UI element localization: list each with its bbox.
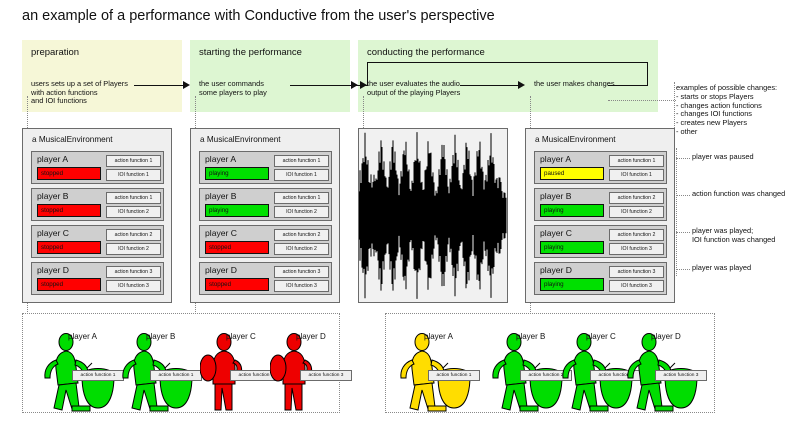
player-status-badge[interactable]: playing bbox=[540, 278, 604, 291]
phase-title-conducting: conducting the performance bbox=[367, 47, 485, 58]
phase-body-evaluate: the user evaluates the audio output of t… bbox=[367, 80, 460, 97]
phase-title-preparation: preparation bbox=[31, 47, 79, 58]
player-status-badge[interactable]: stopped bbox=[205, 278, 269, 291]
phase-panel-starting: starting the performance the user comman… bbox=[190, 40, 350, 112]
action-function-box[interactable]: action function 1 bbox=[274, 192, 329, 204]
player-name: player B bbox=[37, 191, 69, 201]
phase-body-line: some players to play bbox=[199, 89, 267, 98]
player-status-badge[interactable]: playing bbox=[205, 204, 269, 217]
env-title: a MusicalEnvironment bbox=[32, 135, 113, 144]
player-name: player A bbox=[37, 154, 68, 164]
player-name: player B bbox=[540, 191, 572, 201]
player-row[interactable]: player B stopped action function 1 IOI f… bbox=[31, 188, 164, 221]
figure-action-function-box[interactable]: action function 3 bbox=[300, 370, 352, 381]
examples-bracket bbox=[674, 82, 675, 130]
player-status-badge[interactable]: stopped bbox=[37, 241, 101, 254]
annotation-leader-played-ioi bbox=[676, 232, 690, 233]
action-function-box[interactable]: action function 2 bbox=[274, 229, 329, 241]
ioi-function-box[interactable]: IOI function 2 bbox=[106, 206, 161, 218]
annotation-leader-paused bbox=[676, 158, 690, 159]
flow-arrowhead bbox=[360, 81, 367, 89]
player-row[interactable]: player A playing action function 1 IOI f… bbox=[199, 151, 332, 184]
player-status-badge[interactable]: stopped bbox=[37, 278, 101, 291]
annotation-leader-played bbox=[676, 269, 690, 270]
ioi-function-box[interactable]: IOI function 3 bbox=[274, 280, 329, 292]
phase-body-changes: the user makes changes bbox=[534, 80, 615, 89]
player-status-badge[interactable]: paused bbox=[540, 167, 604, 180]
ioi-function-box[interactable]: IOI function 1 bbox=[609, 169, 664, 181]
ioi-function-box[interactable]: IOI function 3 bbox=[106, 280, 161, 292]
action-function-box[interactable]: action function 3 bbox=[106, 266, 161, 278]
action-function-box[interactable]: action function 1 bbox=[274, 155, 329, 167]
figure-action-function-box[interactable]: action function 1 bbox=[72, 370, 124, 381]
examples-of-changes-note: examples of possible changes: - starts o… bbox=[676, 84, 777, 137]
action-function-box[interactable]: action function 3 bbox=[274, 266, 329, 278]
connector-prep-to-env1 bbox=[27, 96, 28, 128]
player-name: player A bbox=[540, 154, 571, 164]
player-name: player D bbox=[205, 265, 237, 275]
player-status-badge[interactable]: stopped bbox=[37, 167, 101, 180]
ioi-function-box[interactable]: IOI function 2 bbox=[274, 243, 329, 255]
connector-changes-to-examples bbox=[608, 100, 676, 101]
annotation-leader-action-changed bbox=[676, 195, 690, 196]
connector-changes-to-env3 bbox=[530, 96, 531, 128]
feedback-loop-bottom-right bbox=[608, 85, 648, 86]
player-status-badge[interactable]: playing bbox=[205, 167, 269, 180]
player-row[interactable]: player A stopped action function 1 IOI f… bbox=[31, 151, 164, 184]
feedback-loop-right bbox=[647, 62, 648, 86]
player-row[interactable]: player D stopped action function 3 IOI f… bbox=[199, 262, 332, 295]
player-name: player A bbox=[205, 154, 236, 164]
player-row[interactable]: player D stopped action function 3 IOI f… bbox=[31, 262, 164, 295]
phase-body-starting: the user commands some players to play bbox=[199, 80, 267, 97]
player-row[interactable]: player C stopped action function 2 IOI f… bbox=[199, 225, 332, 258]
player-name: player C bbox=[37, 228, 69, 238]
ioi-function-box[interactable]: IOI function 3 bbox=[609, 243, 664, 255]
player-row[interactable]: player C stopped action function 2 IOI f… bbox=[31, 225, 164, 258]
annotation-spine bbox=[676, 148, 677, 276]
env-title: a MusicalEnvironment bbox=[200, 135, 281, 144]
flow-arrowhead bbox=[183, 81, 190, 89]
musical-environment-3: a MusicalEnvironment player A paused act… bbox=[525, 128, 675, 303]
phase-body-line: the user makes changes bbox=[534, 80, 615, 89]
player-row[interactable]: player C playing action function 2 IOI f… bbox=[534, 225, 667, 258]
figure-label: player D bbox=[296, 332, 326, 341]
annotation-player-played: player was played bbox=[692, 264, 751, 273]
player-name: player C bbox=[540, 228, 572, 238]
figure-action-function-box[interactable]: action function 1 bbox=[150, 370, 202, 381]
figure-label: player C bbox=[226, 332, 256, 341]
phase-body-line: output of the playing Players bbox=[367, 89, 460, 98]
action-function-box[interactable]: action function 2 bbox=[106, 229, 161, 241]
flow-arrowhead bbox=[518, 81, 525, 89]
audio-waveform-panel bbox=[358, 128, 508, 303]
player-name: player D bbox=[540, 265, 572, 275]
player-row[interactable]: player A paused action function 1 IOI fu… bbox=[534, 151, 667, 184]
player-name: player B bbox=[205, 191, 237, 201]
action-function-box[interactable]: action function 2 bbox=[609, 229, 664, 241]
connector-evaluate-to-wave bbox=[363, 96, 364, 128]
phase-title-starting: starting the performance bbox=[199, 47, 302, 58]
ioi-function-box[interactable]: IOI function 1 bbox=[274, 169, 329, 181]
annotation-played-ioi-changed: player was played; IOI function was chan… bbox=[692, 227, 775, 245]
action-function-box[interactable]: action function 1 bbox=[106, 155, 161, 167]
annotation-line: IOI function was changed bbox=[692, 236, 775, 245]
player-row[interactable]: player D playing action function 3 IOI f… bbox=[534, 262, 667, 295]
player-status-badge[interactable]: stopped bbox=[205, 241, 269, 254]
flow-arrow-evaluate-to-changes bbox=[460, 85, 519, 86]
annotation-player-paused: player was paused bbox=[692, 153, 754, 162]
flow-arrow-prep-to-start bbox=[134, 85, 184, 86]
player-row[interactable]: player B playing action function 1 IOI f… bbox=[199, 188, 332, 221]
action-function-box[interactable]: action function 2 bbox=[609, 192, 664, 204]
ioi-function-box[interactable]: IOI function 2 bbox=[106, 243, 161, 255]
ioi-function-box[interactable]: IOI function 3 bbox=[609, 280, 664, 292]
feedback-loop-top bbox=[367, 62, 648, 63]
player-status-badge[interactable]: playing bbox=[540, 241, 604, 254]
phase-body-preparation: users sets up a set of Players with acti… bbox=[31, 80, 128, 106]
ioi-function-box[interactable]: IOI function 2 bbox=[274, 206, 329, 218]
ioi-function-box[interactable]: IOI function 1 bbox=[106, 169, 161, 181]
player-name: player C bbox=[205, 228, 237, 238]
figure-label: player B bbox=[146, 332, 175, 341]
player-row[interactable]: player B playing action function 2 IOI f… bbox=[534, 188, 667, 221]
player-status-badge[interactable]: playing bbox=[540, 204, 604, 217]
figure-label: player D bbox=[651, 332, 681, 341]
figure-action-function-box[interactable]: action function 3 bbox=[655, 370, 707, 381]
musical-environment-1: a MusicalEnvironment player A stopped ac… bbox=[22, 128, 172, 303]
player-name: player D bbox=[37, 265, 69, 275]
ioi-function-box[interactable]: IOI function 2 bbox=[609, 206, 664, 218]
phase-body-line: and IOI functions bbox=[31, 97, 128, 106]
phase-panel-conducting: conducting the performance the user eval… bbox=[358, 40, 658, 112]
figure-label: player A bbox=[68, 332, 97, 341]
audio-waveform-icon bbox=[359, 129, 507, 302]
action-function-box[interactable]: action function 1 bbox=[609, 155, 664, 167]
page-title: an example of a performance with Conduct… bbox=[22, 8, 495, 24]
figure-action-function-box[interactable]: action function 1 bbox=[428, 370, 480, 381]
musical-environment-2: a MusicalEnvironment player A playing ac… bbox=[190, 128, 340, 303]
player-status-badge[interactable]: stopped bbox=[37, 204, 101, 217]
action-function-box[interactable]: action function 3 bbox=[609, 266, 664, 278]
figure-label: player C bbox=[586, 332, 616, 341]
connector-start-to-env2 bbox=[195, 96, 196, 128]
feedback-loop-left bbox=[367, 62, 368, 85]
phase-panel-preparation: preparation users sets up a set of Playe… bbox=[22, 40, 182, 112]
action-function-box[interactable]: action function 1 bbox=[106, 192, 161, 204]
examples-note-line: - other bbox=[676, 128, 777, 137]
annotation-action-changed: action function was changed bbox=[692, 190, 785, 199]
env-title: a MusicalEnvironment bbox=[535, 135, 616, 144]
figure-label: player B bbox=[516, 332, 545, 341]
figure-label: player A bbox=[424, 332, 453, 341]
